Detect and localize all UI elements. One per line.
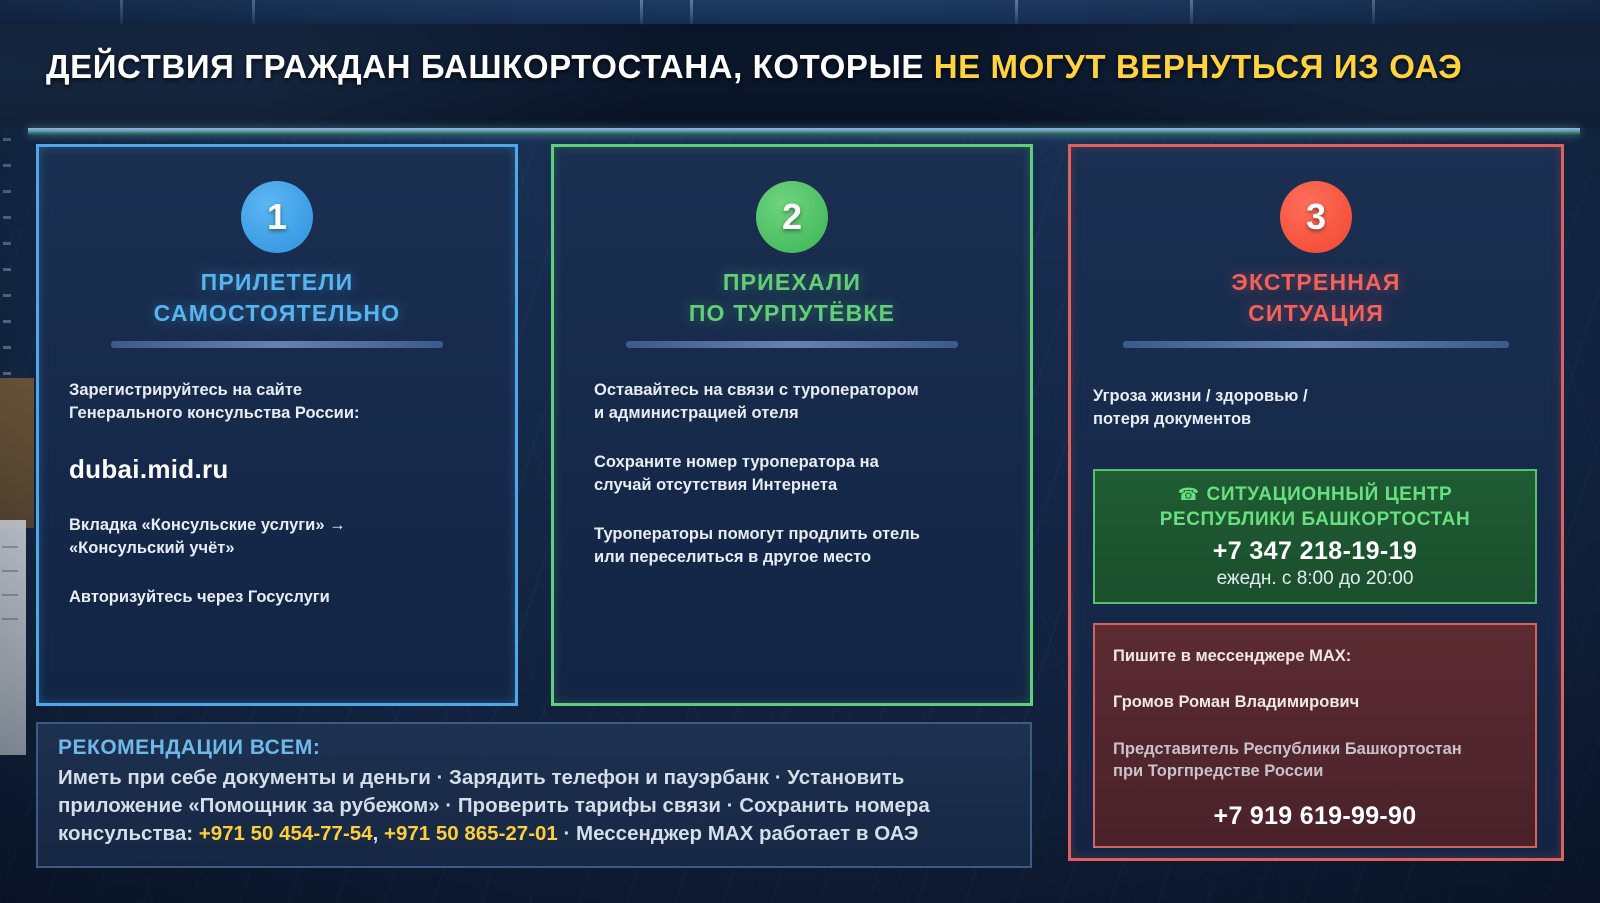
consulate-phone-2[interactable]: +971 50 865-27-01	[384, 822, 558, 845]
max-messenger-box[interactable]: Пишите в мессенджере MAX: Громов Роман В…	[1093, 623, 1537, 848]
card-paragraph: Зарегистрируйтесь на сайте Генерального …	[69, 379, 489, 425]
card-paragraph: Сохраните номер туроператора на случай о…	[594, 451, 1004, 497]
card-paragraph: Авторизуйтесь через Госуслуги	[69, 586, 489, 609]
infographic-stage: ДЕЙСТВИЯ ГРАЖДАН БАШКОРТОСТАНА, КОТОРЫЕ …	[0, 0, 1600, 903]
max-contact-phone[interactable]: +7 919 619-99-90	[1113, 800, 1517, 834]
card-title: ЭКСТРЕННАЯ СИТУАЦИЯ	[1071, 267, 1561, 328]
max-contact-name: Громов Роман Владимирович	[1113, 691, 1517, 713]
situation-center-phone[interactable]: +7 347 218-19-19	[1105, 537, 1525, 566]
card-title: ПРИЛЕТЕЛИ САМОСТОЯТЕЛЬНО	[39, 267, 515, 328]
card-divider	[111, 341, 443, 348]
situation-center-hours: ежедн. с 8:00 до 20:00	[1105, 568, 1525, 590]
situation-center-heading-text: СИТУАЦИОННЫЙ ЦЕНТР РЕСПУБЛИКИ БАШКОРТОСТ…	[1160, 484, 1471, 530]
max-prompt: Пишите в мессенджере MAX:	[1113, 645, 1517, 667]
recommendations-heading: РЕКОМЕНДАЦИИ ВСЕМ:	[58, 736, 1012, 760]
card-divider	[1123, 341, 1509, 348]
recommendations-line-3-suffix: · Мессенджер MAX работает в ОАЭ	[558, 822, 919, 845]
card-arrived-with-tour-package[interactable]: 2 ПРИЕХАЛИ ПО ТУРПУТЁВКЕ Оставайтесь на …	[551, 144, 1033, 706]
page-title-highlight: НЕ МОГУТ ВЕРНУТЬСЯ ИЗ ОАЭ	[934, 48, 1463, 85]
page-title: ДЕЙСТВИЯ ГРАЖДАН БАШКОРТОСТАНА, КОТОРЫЕ …	[46, 48, 1566, 86]
consulate-website-link[interactable]: dubai.mid.ru	[69, 451, 489, 487]
page-title-main: ДЕЙСТВИЯ ГРАЖДАН БАШКОРТОСТАНА, КОТОРЫЕ	[46, 48, 934, 85]
card-emergency-situation[interactable]: 3 ЭКСТРЕННАЯ СИТУАЦИЯ Угроза жизни / здо…	[1068, 144, 1564, 861]
card-number-badge: 3	[1280, 181, 1352, 253]
header-divider	[28, 128, 1580, 135]
card-body: Зарегистрируйтесь на сайте Генерального …	[69, 379, 489, 635]
phone-icon: ☎	[1178, 485, 1200, 504]
recommendations-body: Иметь при себе документы и деньги · Заря…	[58, 764, 1012, 848]
card-paragraph: Вкладка «Консульские услуги» → «Консульс…	[69, 514, 489, 560]
card-paragraph: Угроза жизни / здоровью / потеря докумен…	[1093, 385, 1535, 431]
card-title: ПРИЕХАЛИ ПО ТУРПУТЁВКЕ	[554, 267, 1030, 328]
card-arrived-independently[interactable]: 1 ПРИЛЕТЕЛИ САМОСТОЯТЕЛЬНО Зарегистрируй…	[36, 144, 518, 706]
recommendations-line-1: Иметь при себе документы и деньги · Заря…	[58, 766, 904, 789]
consulate-phone-1[interactable]: +971 50 454-77-54	[199, 822, 373, 845]
card-number-badge: 1	[241, 181, 313, 253]
card-body: Угроза жизни / здоровью / потеря докумен…	[1093, 385, 1535, 443]
cards-row: 1 ПРИЛЕТЕЛИ САМОСТОЯТЕЛЬНО Зарегистрируй…	[36, 144, 1564, 706]
situation-center-heading: ☎СИТУАЦИОННЫЙ ЦЕНТР РЕСПУБЛИКИ БАШКОРТОС…	[1105, 483, 1525, 532]
card-body: Оставайтесь на связи с туроператором и а…	[594, 379, 1004, 596]
situation-center-box[interactable]: ☎СИТУАЦИОННЫЙ ЦЕНТР РЕСПУБЛИКИ БАШКОРТОС…	[1093, 469, 1537, 604]
recommendations-line-2: приложение «Помощник за рубежом» · Прове…	[58, 794, 930, 817]
card-number-badge: 2	[756, 181, 828, 253]
card-paragraph: Оставайтесь на связи с туроператором и а…	[594, 379, 1004, 425]
card-paragraph: Туроператоры помогут продлить отель или …	[594, 523, 1004, 569]
max-contact-role: Представитель Республики Башкортостан пр…	[1113, 738, 1517, 783]
phone-separator: ,	[373, 822, 384, 845]
card-divider	[626, 341, 958, 348]
recommendations-panel: РЕКОМЕНДАЦИИ ВСЕМ: Иметь при себе докуме…	[36, 722, 1032, 868]
recommendations-line-3-prefix: консульства:	[58, 822, 199, 845]
